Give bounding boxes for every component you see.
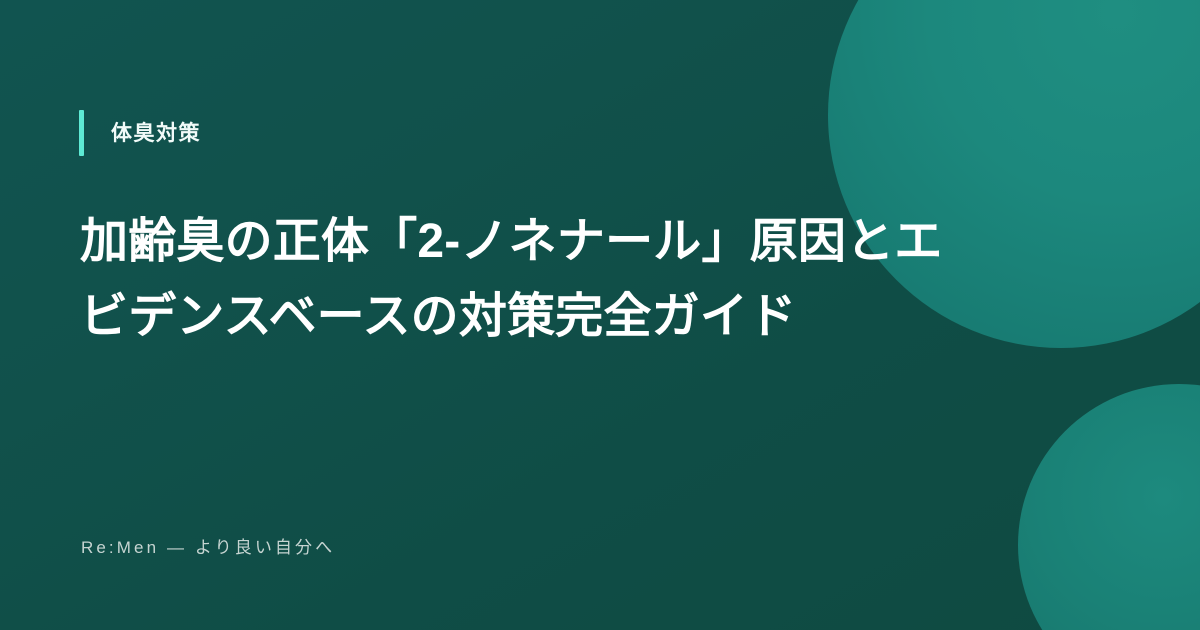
category-badge-label: 体臭対策 xyxy=(111,123,201,144)
card-content: 体臭対策 加齢臭の正体「2-ノネナール」原因とエビデンスベースの対策完全ガイド … xyxy=(0,0,1200,630)
og-image-card: 体臭対策 加齢臭の正体「2-ノネナール」原因とエビデンスベースの対策完全ガイド … xyxy=(0,0,1200,630)
accent-bar-icon xyxy=(79,110,84,156)
site-footer-brand: Re:Men — より良い自分へ xyxy=(81,536,335,560)
page-title: 加齢臭の正体「2-ノネナール」原因とエビデンスベースの対策完全ガイド xyxy=(80,204,970,354)
category-badge: 体臭対策 xyxy=(79,110,201,156)
